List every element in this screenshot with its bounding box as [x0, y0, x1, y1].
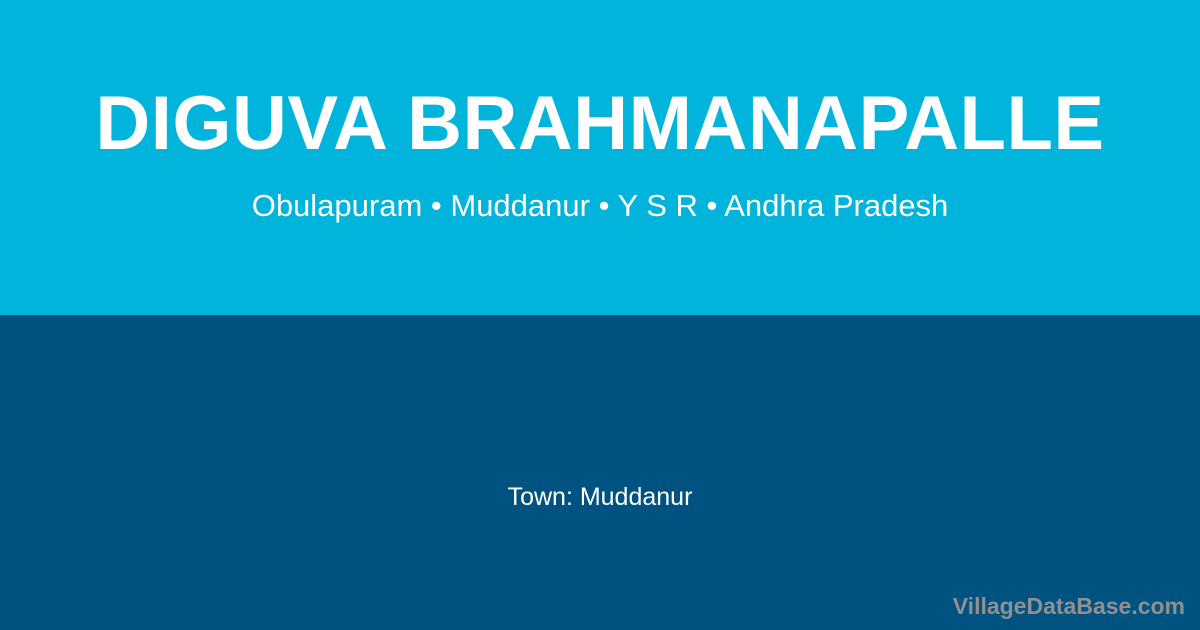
village-info-card: DIGUVA BRAHMANAPALLE Obulapuram • Muddan…	[0, 0, 1200, 630]
header-content: DIGUVA BRAHMANAPALLE Obulapuram • Muddan…	[0, 0, 1200, 315]
breadcrumb: Obulapuram • Muddanur • Y S R • Andhra P…	[0, 190, 1200, 221]
town-label: Town: Muddanur	[0, 485, 1200, 510]
body-content: Town: Muddanur	[0, 315, 1200, 630]
site-watermark: VillageDataBase.com	[953, 595, 1185, 618]
page-title: DIGUVA BRAHMANAPALLE	[0, 86, 1200, 162]
